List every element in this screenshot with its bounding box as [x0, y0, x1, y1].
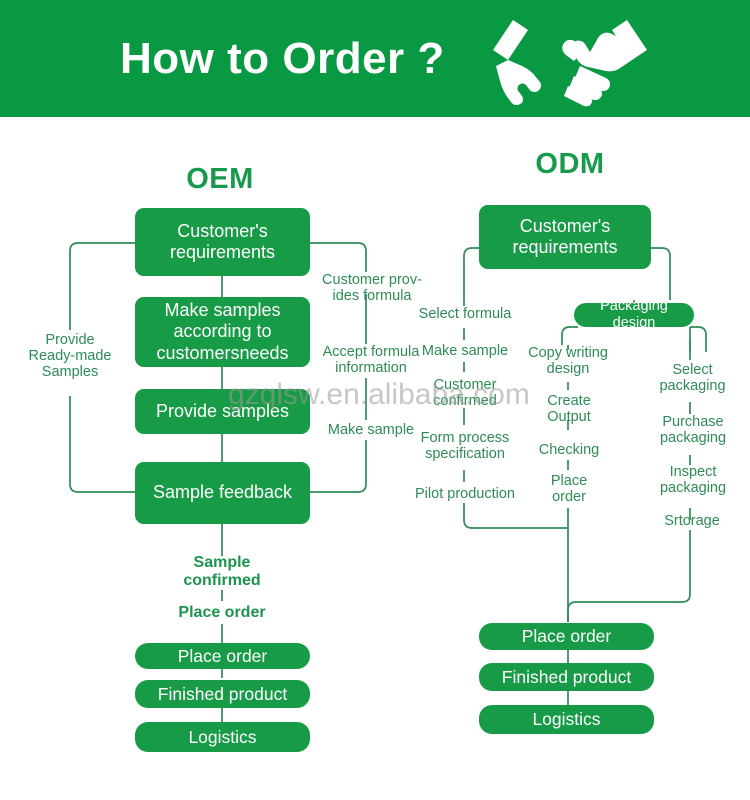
odm-box-label: Customer's requirements: [512, 216, 617, 258]
odm-label-create-output: Create Output: [525, 393, 613, 425]
oem-box-finished-product[interactable]: Finished product: [135, 680, 310, 708]
oem-box-customers-requirements[interactable]: Customer's requirements: [135, 208, 310, 276]
odm-box-label: Place order: [522, 626, 612, 647]
odm-label-form-process-specification: Form process specification: [409, 430, 521, 462]
flowchart-page: How to Order ? OEM ODM: [0, 0, 750, 800]
odm-label-copy-writing-design: Copy writing design: [520, 345, 616, 377]
column-title-oem: OEM: [130, 163, 310, 196]
odm-label-purchase-packaging: Purchase packaging: [643, 414, 743, 446]
oem-box-label: Sample feedback: [153, 482, 292, 503]
odm-label-place-order: Place order: [528, 473, 610, 505]
odm-box-logistics[interactable]: Logistics: [479, 705, 654, 734]
oem-box-sample-feedback[interactable]: Sample feedback: [135, 462, 310, 524]
oem-box-label: Customer's requirements: [170, 221, 275, 263]
column-title-odm: ODM: [480, 148, 660, 181]
odm-label-make-sample: Make sample: [411, 343, 519, 359]
oem-label-customer-provides-formula: Customer prov- ides formula: [312, 272, 432, 304]
oem-box-label: Make samples according to customersneeds: [156, 300, 288, 364]
oem-box-place-order[interactable]: Place order: [135, 643, 310, 669]
odm-label-select-formula: Select formula: [410, 306, 520, 322]
page-header: How to Order ?: [0, 0, 750, 117]
odm-box-finished-product[interactable]: Finished product: [479, 663, 654, 691]
odm-label-inspect-packaging: Inspect packaging: [645, 464, 741, 496]
oem-box-logistics[interactable]: Logistics: [135, 722, 310, 752]
odm-box-label: Finished product: [502, 667, 631, 688]
odm-label-pilot-production: Pilot production: [404, 486, 526, 502]
odm-box-customers-requirements[interactable]: Customer's requirements: [479, 205, 651, 269]
odm-label-select-packaging: Select packaging: [645, 362, 740, 394]
oem-box-make-samples[interactable]: Make samples according to customersneeds: [135, 297, 310, 367]
oem-label-sample-confirmed: Sample confirmed: [162, 554, 282, 590]
oem-box-label: Finished product: [158, 684, 287, 705]
odm-label-srtorage: Srtorage: [648, 513, 736, 529]
oem-box-label: Place order: [178, 646, 268, 667]
odm-box-place-order[interactable]: Place order: [479, 623, 654, 650]
page-title: How to Order ?: [120, 30, 445, 88]
oem-box-label: Logistics: [188, 727, 256, 748]
odm-box-label: Logistics: [532, 709, 600, 730]
handshake-icon: [480, 8, 660, 108]
oem-label-provide-ready-made: Provide Ready-made Samples: [20, 332, 120, 381]
oem-label-place-order: Place order: [157, 604, 287, 622]
odm-box-label: Packaging design: [580, 298, 688, 332]
watermark: gzqlsw.en.alibaba.com: [228, 378, 530, 412]
odm-label-checking: Checking: [524, 442, 614, 458]
odm-box-packaging-design[interactable]: Packaging design: [574, 303, 694, 327]
